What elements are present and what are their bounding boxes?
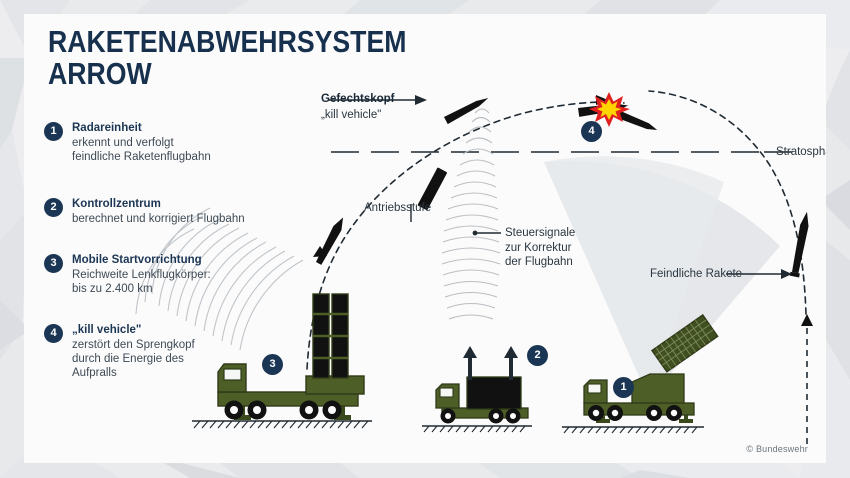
warhead-leader-arrow	[415, 95, 427, 105]
legend-badge-3: 3	[44, 254, 63, 273]
enemy-missile-label: Feindliche Rakete	[650, 267, 742, 282]
legend-heading-2: Kontrollzentrum	[72, 197, 302, 211]
page-title: RAKETENABWEHRSYSTEM ARROW	[48, 26, 406, 90]
radar-unit-marker[interactable]: 1	[613, 377, 634, 398]
legend-body-1: erkennt und verfolgt feindliche Raketenf…	[72, 136, 302, 164]
legend-body-2: berechnet und korrigiert Flugbahn	[72, 212, 302, 226]
control-center-marker[interactable]: 2	[527, 345, 548, 366]
legend-heading-1: Radareinheit	[72, 121, 302, 135]
warhead-label: Gefechtskopf	[321, 92, 395, 107]
legend-badge-2: 2	[44, 198, 63, 217]
control-center-vehicle	[422, 346, 532, 432]
booster-label: Antriebsstufe	[364, 201, 431, 216]
infographic-root: RAKETENABWEHRSYSTEM ARROW 1 Radareinheit…	[0, 0, 850, 478]
enemy-rise-arrow	[801, 314, 813, 326]
control-signals-label: Steuersignale zur Korrektur der Flugbahn	[505, 226, 575, 270]
legend-heading-3: Mobile Startvorrichtung	[72, 253, 302, 267]
copyright-text: © Bundeswehr	[746, 444, 808, 454]
infographic-card: RAKETENABWEHRSYSTEM ARROW 1 Radareinheit…	[24, 14, 826, 463]
stratosphere-label: Stratosphäre	[776, 145, 826, 160]
legend-heading-4: „kill vehicle"	[72, 323, 302, 337]
enemy-missile-leader-arrow	[781, 269, 792, 279]
control-signal-waves	[442, 109, 500, 319]
legend-badge-1: 1	[44, 122, 63, 141]
interceptor-trajectory	[307, 102, 624, 369]
mobile-launcher-marker[interactable]: 3	[262, 354, 283, 375]
legend-body-3: Reichweite Lenkflugkörper: bis zu 2.400 …	[72, 268, 302, 296]
kill-vehicle-label: „kill vehicle"	[321, 108, 381, 123]
legend-badge-4: 4	[44, 324, 63, 343]
intercept-marker[interactable]: 4	[581, 121, 602, 142]
